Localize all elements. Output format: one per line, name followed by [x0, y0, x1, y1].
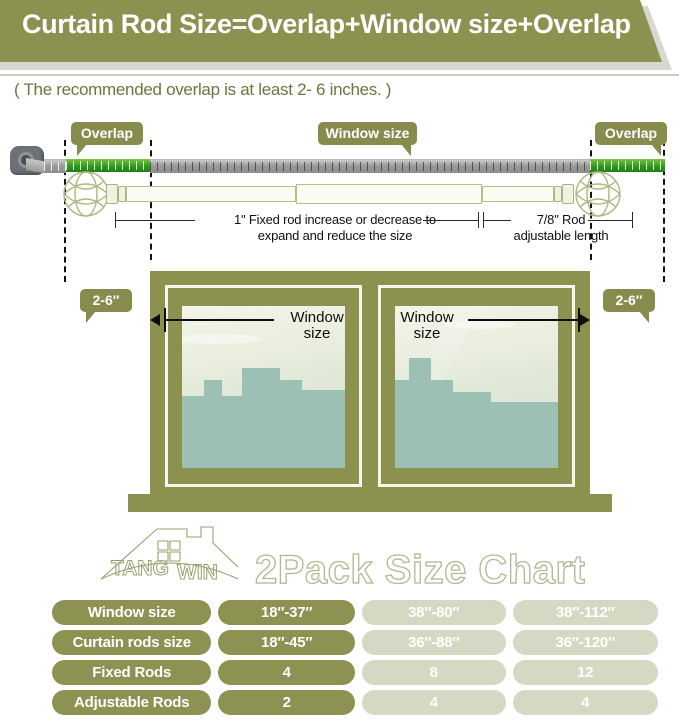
window-sill: [128, 494, 612, 512]
badge-tail-icon: [401, 144, 411, 156]
table-row: Fixed Rods 4 8 12: [52, 660, 658, 685]
dim-cap-adjust-end: [632, 212, 633, 228]
size-chart-table: Window size 18″-37″ 38″-80″ 38″-112″ Cur…: [52, 600, 658, 720]
table-row: Window size 18″-37″ 38″-80″ 38″-112″: [52, 600, 658, 625]
badge-overlap-right-label: Overlap: [605, 125, 657, 141]
rod-collar-left-2: [118, 186, 126, 202]
table-cell-pack-small: 4: [218, 660, 355, 685]
badge-tail-icon: [77, 144, 87, 156]
badge-overlap-left-label: Overlap: [81, 125, 133, 141]
arrow-line-left: [164, 319, 274, 321]
window-size-label-left: Window size: [272, 310, 362, 342]
table-cell-pack-small: 18″-37″: [218, 600, 355, 625]
rod-segment-adjustable: [482, 186, 554, 202]
badge-window-size: Window size: [318, 122, 417, 145]
table-cell-pack-large: 12: [513, 660, 659, 685]
badge-overlap-measure-left: 2-6″: [80, 289, 132, 312]
finial-right-icon: [574, 170, 622, 218]
logo-text-left: TANG: [111, 557, 169, 580]
arrow-head-right-icon: [580, 314, 590, 326]
table-cell-pack-large: 36″-120″: [513, 630, 659, 655]
arrow-line-right: [468, 319, 578, 321]
dim-cap-fixed-end: [478, 212, 479, 228]
finial-left-icon: [62, 170, 110, 218]
badge-overlap-left: Overlap: [71, 122, 143, 145]
badge-tail-icon: [639, 311, 649, 323]
arrow-head-left-icon: [150, 314, 160, 326]
header-banner: Curtain Rod Size=Overlap+Window size+Ove…: [0, 0, 679, 72]
dim-line-fixed-right: [423, 220, 478, 221]
brand-logo: TANG WIN: [95, 521, 245, 593]
header-divider: [0, 74, 679, 76]
table-row: Adjustable Rods 2 4 4: [52, 690, 658, 715]
table-cell-pack-small: 2: [218, 690, 355, 715]
subtitle-note: ( The recommended overlap is at least 2-…: [14, 80, 391, 100]
badge-tail-icon: [86, 311, 96, 323]
page-title: Curtain Rod Size=Overlap+Window size+Ove…: [22, 9, 631, 40]
rod-segment-fixed-left: [126, 186, 296, 202]
rod-collar-right-2: [554, 186, 562, 202]
table-cell-pack-medium: 4: [362, 690, 506, 715]
badge-window-size-label: Window size: [326, 125, 410, 141]
badge-tail-icon: [651, 144, 661, 156]
table-cell-pack-small: 18″-45″: [218, 630, 355, 655]
infographic-canvas: Curtain Rod Size=Overlap+Window size+Ove…: [0, 0, 679, 716]
table-row: Curtain rods size 18″-45″ 36″-88″ 36″-12…: [52, 630, 658, 655]
table-cell-pack-large: 38″-112″: [513, 600, 659, 625]
window-size-label-right: Window size: [382, 310, 472, 342]
dim-label-adjustable-rod: 7/8" Rod adjustable length: [506, 212, 616, 244]
badge-overlap-measure-left-label: 2-6″: [93, 292, 120, 308]
size-chart-title: 2Pack Size Chart: [255, 548, 585, 593]
badge-overlap-measure-right-label: 2-6″: [616, 292, 643, 308]
rod-collar-right: [562, 184, 574, 204]
rod-collar-left: [106, 184, 118, 204]
table-row-label: Window size: [52, 600, 211, 625]
dim-line-adjust-right: [588, 220, 632, 221]
table-row-label: Curtain rods size: [52, 630, 211, 655]
badge-overlap-right: Overlap: [595, 122, 667, 145]
table-row-label: Adjustable Rods: [52, 690, 211, 715]
rod-segment-middle: [296, 184, 482, 204]
badge-overlap-measure-right: 2-6″: [603, 289, 655, 312]
table-cell-pack-medium: 38″-80″: [362, 600, 506, 625]
table-cell-pack-medium: 8: [362, 660, 506, 685]
dim-label-fixed-rod: 1" Fixed rod increase or decrease to exp…: [190, 212, 480, 244]
table-cell-pack-medium: 36″-88″: [362, 630, 506, 655]
table-cell-pack-large: 4: [513, 690, 659, 715]
logo-text-right: WIN: [177, 561, 218, 584]
tape-segment-window: [150, 159, 590, 173]
dim-line-fixed-left: [115, 220, 195, 221]
table-row-label: Fixed Rods: [52, 660, 211, 685]
